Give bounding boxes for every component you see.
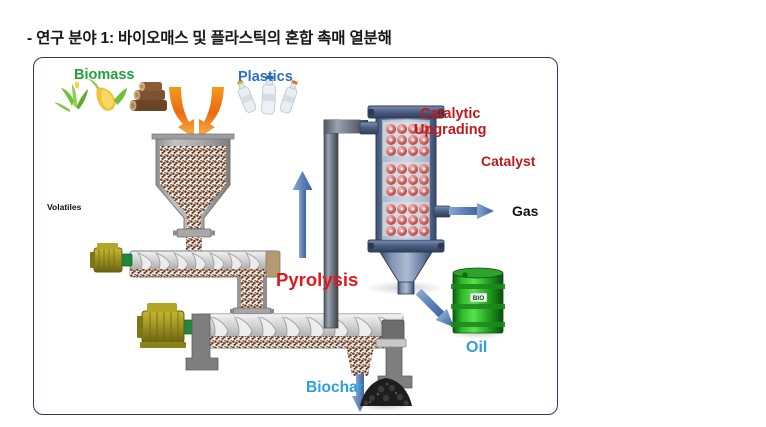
volatiles-arrow-icon [293,171,313,258]
label-biochar: Biochar [306,380,364,397]
corn-stalk-icon [54,82,88,112]
diagram-panel: BIO [33,57,558,415]
corn-cob-icon [88,79,127,111]
label-pyrolysis: Pyrolysis [276,270,358,290]
label-catalytic-upgrading-line1: Catalytic [414,107,487,123]
volatiles-pipe-icon [324,120,368,328]
wood-logs-icon [130,82,167,111]
label-plastics: Plastics [238,70,293,86]
label-gas: Gas [512,204,538,219]
oil-drum-icon: BIO [448,268,508,339]
catalyst-bed-icon [383,122,429,236]
label-catalytic-upgrading: Catalytic Upgrading [414,107,487,138]
feed-arrow-icon [169,87,224,138]
motor-icon [94,248,122,272]
label-biomass: Biomass [74,68,134,84]
page-title: - 연구 분야 1: 바이오매스 및 플라스틱의 혼합 촉매 열분해 [27,26,392,48]
drum-marking-text: BIO [473,295,485,302]
label-catalytic-upgrading-line2: Upgrading [414,123,487,139]
label-catalyst: Catalyst [481,154,535,169]
screw-conveyor-icon [90,243,412,388]
label-oil: Oil [466,339,487,356]
hopper-icon [152,134,234,253]
label-volatiles: Volatiles [47,203,81,212]
coupling-green [122,254,132,266]
gas-arrow-icon [449,203,494,219]
